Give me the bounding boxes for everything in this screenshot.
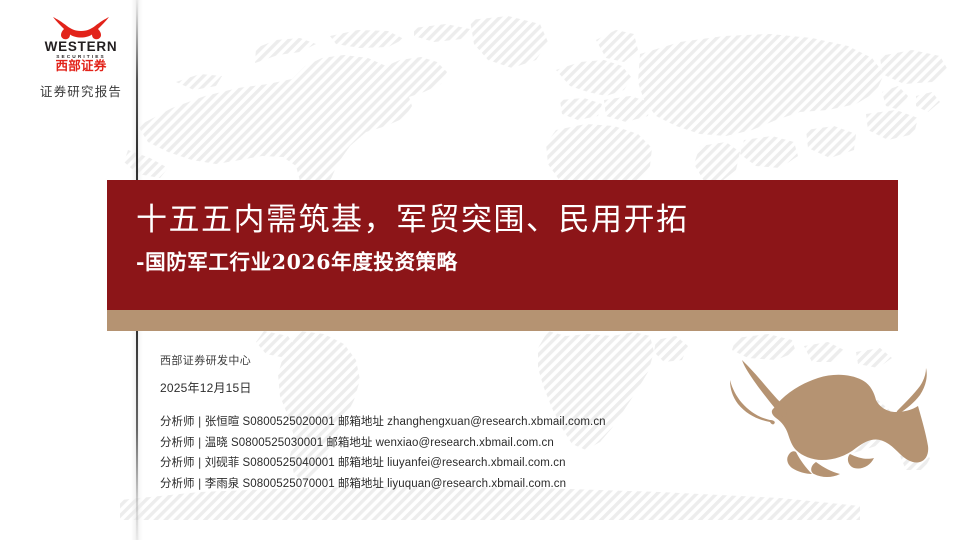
analyst-row: 分析师 | 刘砚菲 S0800525040001 邮箱地址 liuyanfei@… [160, 453, 606, 474]
analyst-email[interactable]: liuyanfei@research.xbmail.com.cn [387, 457, 566, 469]
email-label: 邮箱地址 [326, 435, 372, 449]
publish-date: 2025年12月15日 [160, 379, 606, 396]
analyst-code: S0800525020001 [242, 416, 334, 428]
analyst-code: S0800525030001 [231, 437, 323, 449]
analyst-row: 分析师 | 张恒暄 S0800525020001 邮箱地址 zhanghengx… [160, 412, 606, 433]
cover-slide: WESTERN SECURITIES 西部证券 证券研究报告 十五五内需筑基，军… [0, 0, 960, 540]
analyst-code: S0800525070001 [242, 478, 334, 490]
report-type-label: 证券研究报告 [27, 81, 135, 100]
analyst-name: 刘砚菲 [205, 455, 240, 469]
analyst-row: 分析师 | 温晓 S0800525030001 邮箱地址 wenxiao@res… [160, 433, 606, 454]
bull-head-icon: WESTERN SECURITIES 西部证券 [29, 14, 133, 72]
analyst-separator: | [198, 414, 202, 428]
title-banner: 十五五内需筑基，军贸突围、民用开拓 -国防军工行业2026年度投资策略 [107, 180, 898, 310]
info-block: 西部证券研发中心 2025年12月15日 分析师 | 张恒暄 S08005250… [160, 352, 606, 494]
analyst-separator: | [198, 435, 202, 449]
analyst-email[interactable]: zhanghengxuan@research.xbmail.com.cn [387, 416, 606, 428]
email-label: 邮箱地址 [338, 455, 384, 469]
accent-bar [107, 310, 898, 331]
analyst-label: 分析师 [160, 476, 195, 490]
email-label: 邮箱地址 [338, 476, 384, 490]
analyst-label: 分析师 [160, 414, 195, 428]
analyst-separator: | [198, 455, 202, 469]
svg-text:WESTERN: WESTERN [45, 39, 118, 54]
analyst-label: 分析师 [160, 435, 195, 449]
analyst-name: 张恒暄 [205, 414, 240, 428]
analyst-email[interactable]: wenxiao@research.xbmail.com.cn [376, 437, 554, 449]
analyst-name: 温晓 [205, 435, 228, 449]
analyst-code: S0800525040001 [242, 457, 334, 469]
analyst-label: 分析师 [160, 455, 195, 469]
research-center-label: 西部证券研发中心 [160, 352, 606, 368]
analyst-name: 李雨泉 [205, 476, 240, 490]
company-logo: WESTERN SECURITIES 西部证券 证券研究报告 [27, 14, 135, 100]
page-title: 十五五内需筑基，军贸突围、民用开拓 [136, 200, 886, 240]
analyst-email[interactable]: liyuquan@research.xbmail.com.cn [387, 478, 566, 490]
svg-text:西部证券: 西部证券 [55, 58, 106, 72]
email-label: 邮箱地址 [338, 414, 384, 428]
bull-silhouette [700, 350, 960, 490]
analyst-separator: | [198, 476, 202, 490]
analyst-row: 分析师 | 李雨泉 S0800525070001 邮箱地址 liyuquan@r… [160, 474, 606, 495]
page-subtitle: -国防军工行业2026年度投资策略 [136, 247, 886, 277]
